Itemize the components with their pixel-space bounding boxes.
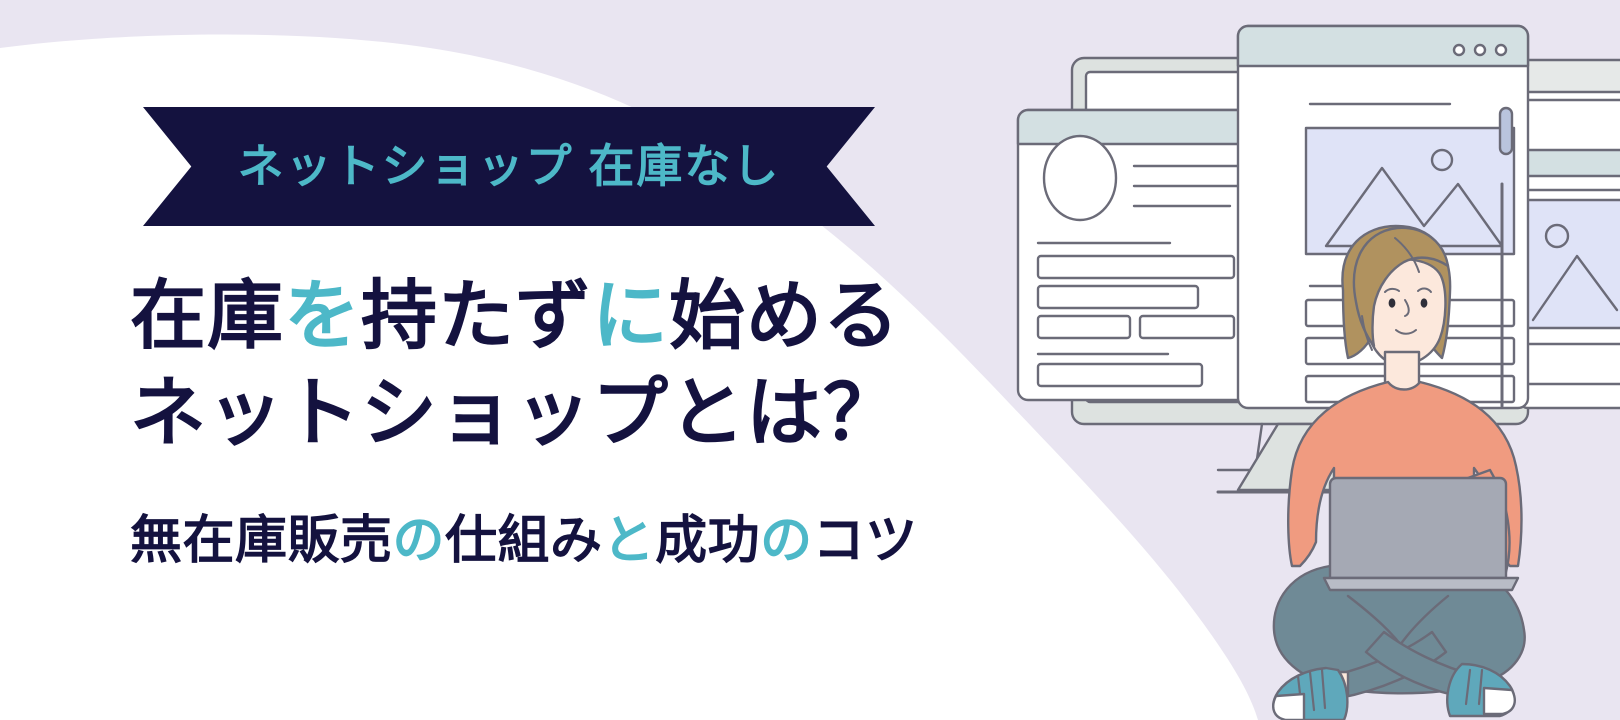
eye-right <box>1421 298 1428 307</box>
avatar-placeholder <box>1044 136 1116 220</box>
laptop <box>1324 478 1518 590</box>
scrollbar-thumb <box>1500 108 1512 154</box>
shoe-left-sole <box>1273 694 1304 720</box>
eye-left <box>1389 298 1396 307</box>
illustration-woman-with-laptop <box>0 0 1620 720</box>
window-dot-3 <box>1496 45 1506 55</box>
shoe-right-sole <box>1484 688 1515 714</box>
right-browser-window <box>1518 60 1620 408</box>
window-dot-2 <box>1475 45 1485 55</box>
window-dot-1 <box>1454 45 1464 55</box>
hero-banner: ネットショップ 在庫なし 在庫を持たずに始める ネットショップとは？ 無在庫販売… <box>0 0 1620 720</box>
